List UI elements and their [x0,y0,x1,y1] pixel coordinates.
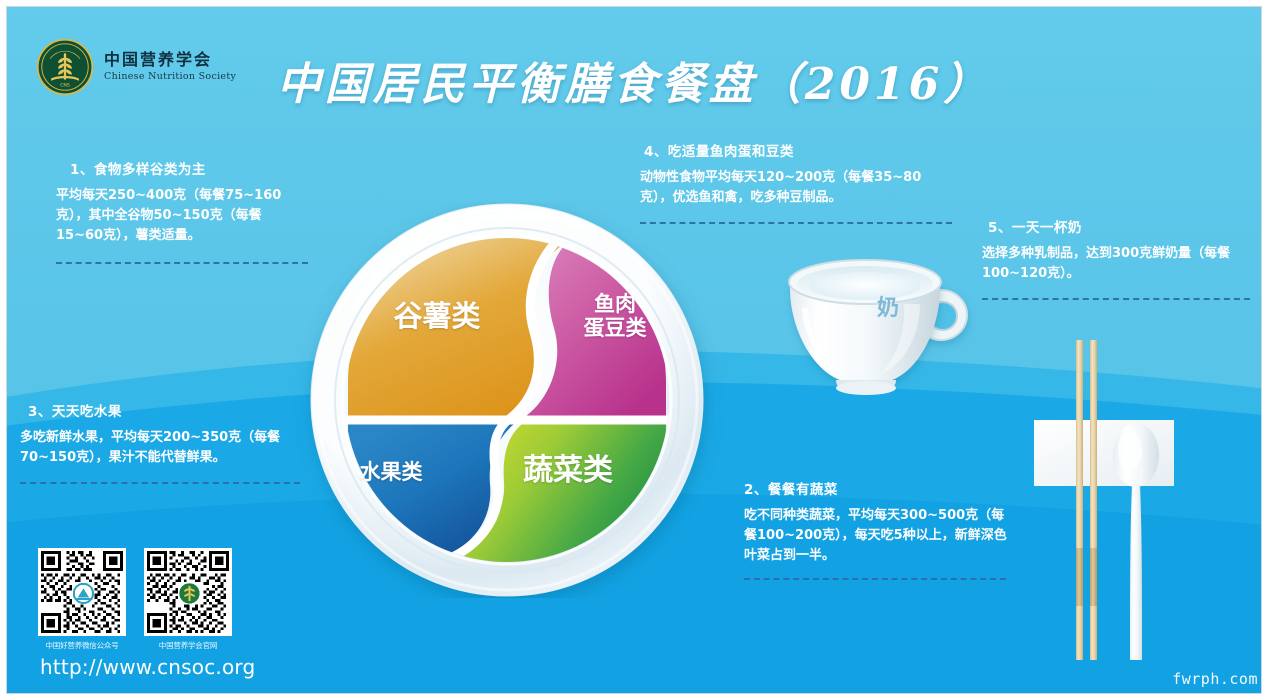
note-heading: 3、天天吃水果 [28,400,292,420]
note-divider [56,262,308,264]
note-heading: 1、食物多样谷类为主 [70,158,308,178]
qr-code-icon [38,548,126,636]
note-heading: 5、一天一杯奶 [988,216,1250,236]
note-fruit: 3、天天吃水果 多吃新鲜水果，平均每天200~350克（每餐70~150克），果… [20,400,292,484]
qr-code-wechat[interactable]: 中国好营养微信公众号 [38,548,126,651]
page-title: 中国居民平衡膳食餐盘（2016） [0,48,1268,112]
qr-caption: 中国好营养微信公众号 [38,640,126,651]
qr-row: 中国好营养微信公众号 [38,548,258,651]
qr-code-website[interactable]: 中国营养学会官网 [144,548,232,651]
utensils-group [1020,340,1260,660]
milk-cup-icon [778,238,998,418]
spoon-icon [1113,423,1159,660]
note-divider [744,578,1006,580]
balanced-diet-plate: 谷薯类 鱼肉 蛋豆类 蔬菜类 水果类 [282,202,732,598]
note-body: 吃不同种类蔬菜，平均每天300~500克（每餐100~200克），每天吃5种以上… [744,506,1012,566]
note-heading: 2、餐餐有蔬菜 [744,478,1012,498]
qr-caption: 中国营养学会官网 [144,640,232,651]
plate-label-protein-line1: 鱼肉 [560,292,670,316]
note-divider [20,482,300,484]
cup-label: 奶 [858,290,918,322]
footer-qr-area: 中国好营养微信公众号 [38,548,258,679]
note-milk: 5、一天一杯奶 选择多种乳制品，达到300克鲜奶量（每餐100~120克）。 [982,216,1250,300]
note-divider [982,298,1250,300]
plate-label-fruit: 水果类 [326,460,456,484]
note-body: 平均每天250~400克（每餐75~160克），其中全谷物50~150克（每餐1… [56,186,308,246]
website-url[interactable]: http://www.cnsoc.org [40,655,258,679]
note-body: 多吃新鲜水果，平均每天200~350克（每餐70~150克），果汁不能代替鲜果。 [20,428,292,468]
chopsticks-icon [1076,340,1097,660]
note-body: 选择多种乳制品，达到300克鲜奶量（每餐100~120克）。 [982,244,1250,284]
plate-label-protein: 鱼肉 蛋豆类 [560,292,670,341]
note-vegetable: 2、餐餐有蔬菜 吃不同种类蔬菜，平均每天300~500克（每餐100~200克）… [744,478,1012,580]
plate-label-grain: 谷薯类 [342,300,532,334]
note-heading: 4、吃适量鱼肉蛋和豆类 [644,140,950,160]
plate-label-vegetable: 蔬菜类 [478,454,658,489]
note-grain: 1、食物多样谷类为主 平均每天250~400克（每餐75~160克），其中全谷物… [56,158,308,264]
watermark: fwrph.com [1172,670,1258,688]
poster-root: CNS 中国营养学会 Chinese Nutrition Society 中国居… [0,0,1268,700]
qr-code-icon [144,548,232,636]
plate-label-protein-line2: 蛋豆类 [560,316,670,340]
